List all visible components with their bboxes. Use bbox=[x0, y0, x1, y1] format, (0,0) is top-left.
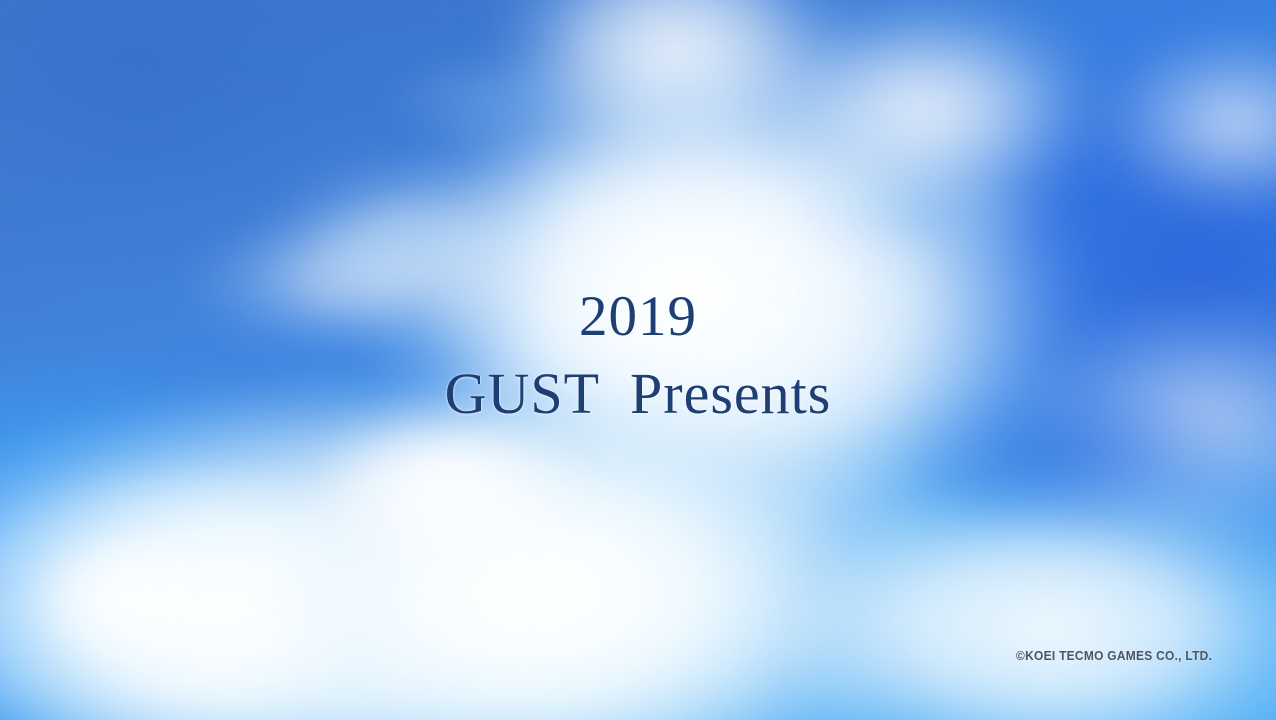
title-block: 2019 GUST Presents bbox=[0, 288, 1276, 423]
copyright-notice: ©KOEI TECMO GAMES CO., LTD. bbox=[1016, 648, 1212, 663]
title-screen: 2019 GUST Presents ©KOEI TECMO GAMES CO.… bbox=[0, 0, 1276, 720]
title-year: 2019 bbox=[0, 288, 1276, 345]
title-presenter: GUST Presents bbox=[0, 365, 1276, 423]
